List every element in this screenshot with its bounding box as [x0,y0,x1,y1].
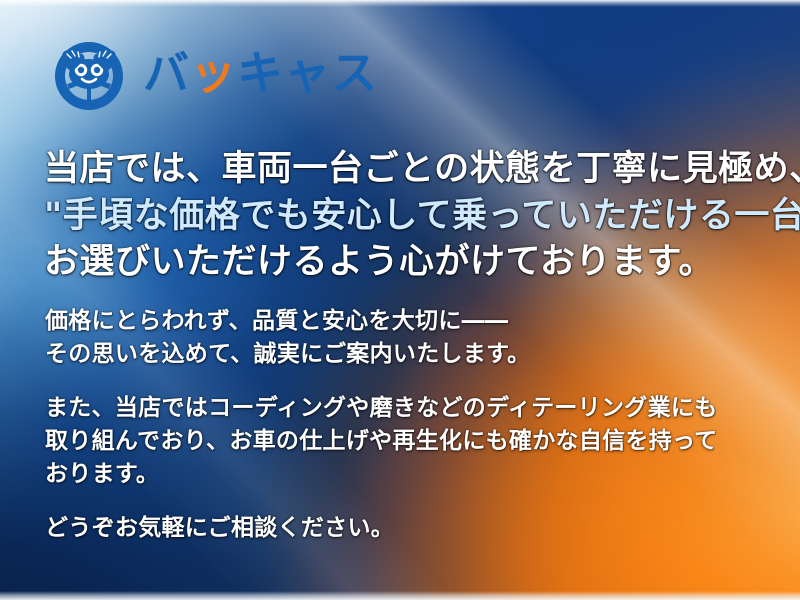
paragraph-1-line-1: 価格にとらわれず、品質と安心を大切に―― [45,305,765,338]
steering-wheel-mascot-icon [47,34,131,112]
brand-logo: バッキャス [47,34,378,112]
background-bottom-highlight-band [0,591,800,600]
paragraph-2-line-2: 取り組んでおり、お車の仕上げや再生化にも確かな自信を持って [45,425,765,458]
headline-block: 当店では、車両一台ごとの状態を丁寧に見極め、 "手頃な価格でも安心して乗っていた… [44,146,774,286]
background-top-highlight-band [0,0,800,7]
paragraph-3: どうぞお気軽にご相談ください。 [45,512,765,545]
headline-line-1: 当店では、車両一台ごとの状態を丁寧に見極め、 [44,146,774,193]
brand-name-part-2: ッ [190,46,237,100]
brand-name-part-1: バ [143,46,190,100]
paragraph-2: また、当店ではコーディングや磨きなどのディテーリング業にも 取り組んでおり、お車… [45,392,765,490]
paragraph-2-line-1: また、当店ではコーディングや磨きなどのディテーリング業にも [45,392,765,425]
brand-name: バッキャス [143,50,378,96]
body-copy: 価格にとらわれず、品質と安心を大切に―― その思いを込めて、誠実にご案内いたしま… [45,305,765,545]
paragraph-3-line-1: どうぞお気軽にご相談ください。 [45,512,765,545]
brand-name-part-3: キャス [237,46,378,100]
paragraph-2-line-3: おります。 [45,458,765,491]
paragraph-1-line-2: その思いを込めて、誠実にご案内いたします。 [45,338,765,371]
paragraph-1: 価格にとらわれず、品質と安心を大切に―― その思いを込めて、誠実にご案内いたしま… [45,305,765,370]
headline-line-2: "手頃な価格でも安心して乗っていただける一台"を [44,193,774,240]
headline-line-3: お選びいただけるよう心がけております。 [44,239,774,286]
promo-banner: バッキャス 当店では、車両一台ごとの状態を丁寧に見極め、 "手頃な価格でも安心し… [0,0,800,600]
